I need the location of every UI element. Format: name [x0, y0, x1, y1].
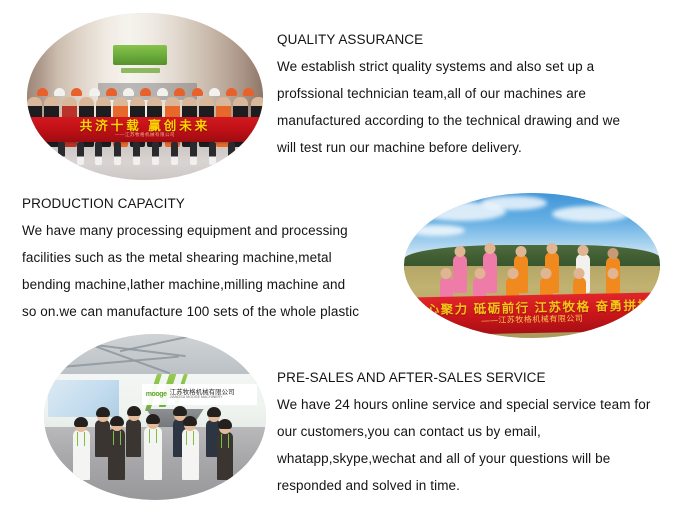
staff-member — [73, 430, 90, 480]
wall-logo — [113, 45, 167, 65]
company-profile-page: 共济十载 赢创未来 ——江苏牧格机械有限公司 QUALITY ASSURANCE… — [0, 0, 680, 509]
section-quality-assurance: QUALITY ASSURANCE We establish strict qu… — [277, 26, 672, 161]
quality-line-3: manufactured according to the technical … — [277, 107, 672, 134]
expo-scene: mooge 江苏牧格机械有限公司 JIANGSU MOOGE MACHINERY — [44, 334, 266, 500]
company-group-photo-lobby: 共济十载 赢创未来 ——江苏牧格机械有限公司 — [27, 13, 263, 180]
staff-member — [126, 419, 141, 457]
capacity-line-2: facilities such as the metal shearing ma… — [22, 244, 402, 271]
staff-member — [182, 429, 199, 480]
service-line-2: our customers,you can contact us by emai… — [277, 418, 672, 445]
booth-company-en-name: JIANGSU MOOGE MACHINERY — [170, 396, 235, 400]
service-heading: PRE-SALES AND AFTER-SALES SERVICE — [277, 364, 672, 391]
capacity-line-4: so on.we can manufacture 100 sets of the… — [22, 298, 402, 325]
service-line-1: We have 24 hours online service and spec… — [277, 391, 672, 418]
section-presales-aftersales-service: PRE-SALES AND AFTER-SALES SERVICE We hav… — [277, 364, 672, 499]
section-production-capacity: PRODUCTION CAPACITY We have many process… — [22, 190, 402, 325]
staff-member — [108, 429, 125, 480]
legs-row — [27, 142, 263, 165]
booth-company-sign: mooge 江苏牧格机械有限公司 JIANGSU MOOGE MACHINERY — [142, 384, 257, 406]
team-banner: 同心聚力 砥砺前行 江苏牧格 奋勇拼搏 ——江苏牧格机械有限公司 — [404, 292, 660, 335]
brand-logo-text: mooge — [146, 391, 167, 398]
quality-heading: QUALITY ASSURANCE — [277, 26, 672, 53]
capacity-line-3: bending machine,lather machine,milling m… — [22, 271, 402, 298]
celebration-banner: 共济十载 赢创未来 ——江苏牧格机械有限公司 — [27, 117, 263, 142]
staff-member — [144, 427, 162, 480]
exhibition-booth-team-photo: mooge 江苏牧格机械有限公司 JIANGSU MOOGE MACHINERY — [44, 334, 266, 500]
capacity-line-1: We have many processing equipment and pr… — [22, 217, 402, 244]
team-banner-sub-text: ——江苏牧格机械有限公司 — [481, 314, 583, 327]
team-member — [453, 255, 467, 293]
outdoor-team-building-photo: 同心聚力 砥砺前行 江苏牧格 奋勇拼搏 ——江苏牧格机械有限公司 — [404, 193, 660, 338]
capacity-heading: PRODUCTION CAPACITY — [22, 190, 402, 217]
quality-line-4: will test run our machine before deliver… — [277, 134, 672, 161]
quality-line-1: We establish strict quality systems and … — [277, 53, 672, 80]
staff-member — [217, 432, 233, 480]
outdoor-scene: 同心聚力 砥砺前行 江苏牧格 奋勇拼搏 ——江苏牧格机械有限公司 — [404, 193, 660, 338]
service-line-3: whatapp,skype,wechat and all of your que… — [277, 445, 672, 472]
banner-sub-text: ——江苏牧格机械有限公司 — [115, 132, 175, 138]
banner-main-text: 共济十载 赢创未来 — [80, 120, 210, 133]
lobby-scene: 共济十载 赢创未来 ——江苏牧格机械有限公司 — [27, 13, 263, 180]
quality-line-2: profssional technician team,all of our m… — [277, 80, 672, 107]
service-line-4: responded and solved in time. — [277, 472, 672, 499]
